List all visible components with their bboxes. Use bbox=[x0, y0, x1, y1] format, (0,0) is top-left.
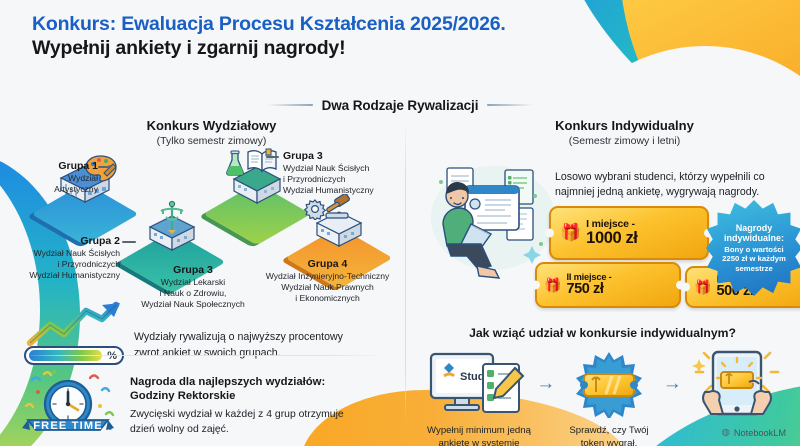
gift-icon-second: 🎁 bbox=[544, 277, 561, 294]
band-label: Dwa Rodzaje Rywalizacji bbox=[322, 98, 479, 113]
left-horizontal-divider bbox=[24, 355, 384, 356]
band-rule-right bbox=[487, 104, 533, 106]
group-2-connector bbox=[122, 241, 136, 243]
faculty-section-title: Konkurs Wydziałowy bbox=[0, 118, 405, 134]
award-heading-line1: Nagroda dla najlepszych wydziałów: bbox=[130, 375, 344, 390]
section-divider-band: Dwa Rodzaje Rywalizacji bbox=[0, 92, 800, 118]
group-2-name: Grupa 2 bbox=[10, 235, 120, 248]
faculty-note-text: Wydziały rywalizują o najwyższy procento… bbox=[134, 330, 343, 365]
prize-tickets-group: 🎁 I miejsce - 1000 zł 🎁 II miejsce - 750… bbox=[535, 206, 800, 314]
group-3-top-connector bbox=[266, 156, 279, 158]
individual-rewards-burst: Nagrody indywidualne: Bony o wartości 22… bbox=[706, 200, 800, 296]
group-2-desc: Wydział Nauk Ścisłych i Przyrodniczych W… bbox=[10, 248, 120, 282]
individual-section-subtitle: (Semestr zimowy i letni) bbox=[405, 135, 800, 147]
monitor-checklist-icon: StudNet bbox=[427, 348, 531, 420]
caduceus-icon bbox=[155, 200, 189, 234]
prize-ticket-first: 🎁 I miejsce - 1000 zł bbox=[549, 206, 709, 260]
growth-arrow-icon bbox=[24, 301, 124, 347]
group-label-2: Grupa 2 Wydział Nauk Ścisłych i Przyrodn… bbox=[10, 235, 120, 282]
burst-detail: Bony o wartości 2250 zł w każdym semestr… bbox=[722, 245, 786, 273]
band-rule-left bbox=[267, 104, 313, 106]
free-time-badge: FREE TIME bbox=[14, 368, 122, 444]
page-header: Konkurs: Ewaluacja Procesu Kształcenia 2… bbox=[32, 12, 506, 61]
hands-tablet-icon bbox=[687, 348, 787, 420]
faculty-award-block: FREE TIME Nagroda dla najlepszych wydzia… bbox=[14, 368, 404, 444]
group-label-3-top: Grupa 3 Wydział Nauk Ścisłych i Przyrodn… bbox=[283, 150, 403, 197]
page-title-line2: Wypełnij ankiety i zgarnij nagrody! bbox=[32, 36, 506, 60]
faculty-section-subtitle: (Tylko semestr zimowy) bbox=[0, 135, 405, 147]
burst-heading: Nagrody indywidualne: bbox=[722, 223, 786, 244]
group-label-4: Grupa 4 Wydział Inżynieryjno-Techniczny … bbox=[255, 258, 400, 305]
notebooklm-icon: ◍ bbox=[722, 427, 730, 438]
individual-description: Losowo wybrani studenci, którzy wypełnil… bbox=[555, 170, 797, 201]
clock-icon: FREE TIME bbox=[14, 368, 122, 444]
flask-icon bbox=[224, 150, 246, 176]
book-icon bbox=[246, 148, 278, 174]
ticket-burst-icon bbox=[560, 348, 657, 420]
prize-amount-second: 750 zł bbox=[566, 282, 611, 297]
infographic-page: Konkurs: Ewaluacja Procesu Kształcenia 2… bbox=[0, 0, 800, 446]
award-body-text: Zwycięski wydział w każdej z 4 grup otrz… bbox=[130, 408, 344, 437]
step-arrow-2: → bbox=[658, 348, 687, 420]
prize-amount-first: 1000 zł bbox=[586, 230, 637, 247]
watermark: ◍ NotebookLM bbox=[722, 427, 786, 438]
step-arrow-1: → bbox=[531, 348, 560, 420]
group-3-bottom-name: Grupa 3 bbox=[128, 264, 258, 277]
group-4-desc: Wydział Inżynieryjno-Techniczny Wydział … bbox=[255, 271, 400, 305]
group-label-3-bottom: Grupa 3 Wydział Lekarski i Nauk o Zdrowi… bbox=[128, 264, 258, 311]
prize-ticket-second: 🎁 II miejsce - 750 zł bbox=[535, 262, 681, 308]
group-3-top-desc: Wydział Nauk Ścisłych i Przyrodniczych W… bbox=[283, 163, 403, 197]
gift-icon-first: 🎁 bbox=[560, 223, 581, 243]
group-3-top-name: Grupa 3 bbox=[283, 150, 403, 163]
how-to-step-2-caption: Sprawdź, czy Twój token wygrał. bbox=[560, 424, 657, 446]
group-4-name: Grupa 4 bbox=[255, 258, 400, 271]
award-text-block: Nagroda dla najlepszych wydziałów: Godzi… bbox=[130, 375, 344, 437]
award-heading-line2: Godziny Rektorskie bbox=[130, 389, 344, 404]
group-label-1: Grupa 1 Wydział Artystyczny bbox=[18, 160, 98, 195]
faculty-contest-column: Konkurs Wydziałowy (Tylko semestr zimowy… bbox=[0, 118, 405, 446]
group-1-name: Grupa 1 bbox=[18, 160, 98, 173]
how-to-step-1-caption: Wypełnij minimum jedną ankietę w systemi… bbox=[427, 424, 531, 446]
group-3-bottom-desc: Wydział Lekarski i Nauk o Zdrowiu, Wydzi… bbox=[128, 277, 258, 311]
svg-text:FREE TIME: FREE TIME bbox=[33, 420, 102, 432]
gavel-icon bbox=[322, 194, 354, 220]
how-to-step-3 bbox=[687, 348, 787, 424]
watermark-label: NotebookLM bbox=[734, 428, 786, 438]
individual-section-title: Konkurs Indywidualny bbox=[405, 118, 800, 134]
how-to-step-1: StudNet Wypełnij minimum jedną ankietę w… bbox=[427, 348, 531, 446]
how-to-step-2: Sprawdź, czy Twój token wygrał. bbox=[560, 348, 657, 446]
page-title-line1: Konkurs: Ewaluacja Procesu Kształcenia 2… bbox=[32, 12, 506, 36]
group-1-connector bbox=[98, 166, 111, 168]
how-to-title: Jak wziąć udział w konkursie indywidualn… bbox=[405, 326, 800, 340]
individual-contest-column: Konkurs Indywidualny (Semestr zimowy i l… bbox=[405, 118, 800, 446]
group-1-desc: Wydział Artystyczny bbox=[18, 173, 98, 196]
